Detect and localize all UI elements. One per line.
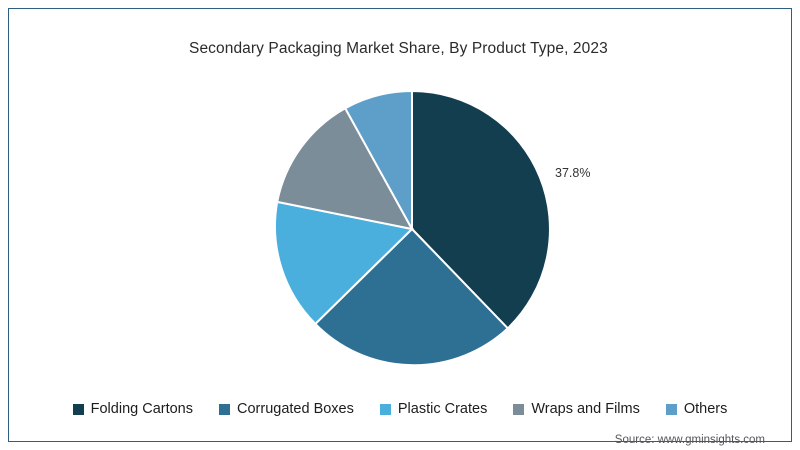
legend-item-others[interactable]: Others [666,401,728,417]
pie-chart [274,91,550,367]
legend-swatch-wraps-and-films [513,404,524,415]
page-title: Secondary Packaging Market Share, By Pro… [189,40,608,58]
pie-data-label-folding-cartons: 37.8% [555,166,590,180]
legend-label-others: Others [684,401,728,417]
legend-label-corrugated-boxes: Corrugated Boxes [237,401,354,417]
legend-item-wraps-and-films[interactable]: Wraps and Films [513,401,640,417]
legend-swatch-plastic-crates [380,404,391,415]
legend-swatch-others [666,404,677,415]
legend-item-plastic-crates[interactable]: Plastic Crates [380,401,487,417]
legend-item-corrugated-boxes[interactable]: Corrugated Boxes [219,401,354,417]
legend-label-plastic-crates: Plastic Crates [398,401,487,417]
legend-label-folding-cartons: Folding Cartons [91,401,193,417]
legend-swatch-folding-cartons [73,404,84,415]
legend-label-wraps-and-films: Wraps and Films [531,401,640,417]
legend-item-folding-cartons[interactable]: Folding Cartons [73,401,193,417]
legend-swatch-corrugated-boxes [219,404,230,415]
chart-frame: Secondary Packaging Market Share, By Pro… [8,8,792,442]
legend: Folding Cartons Corrugated Boxes Plastic… [9,401,791,417]
source-text: Source: www.gminsights.com [615,434,765,446]
pie-svg [274,91,550,367]
